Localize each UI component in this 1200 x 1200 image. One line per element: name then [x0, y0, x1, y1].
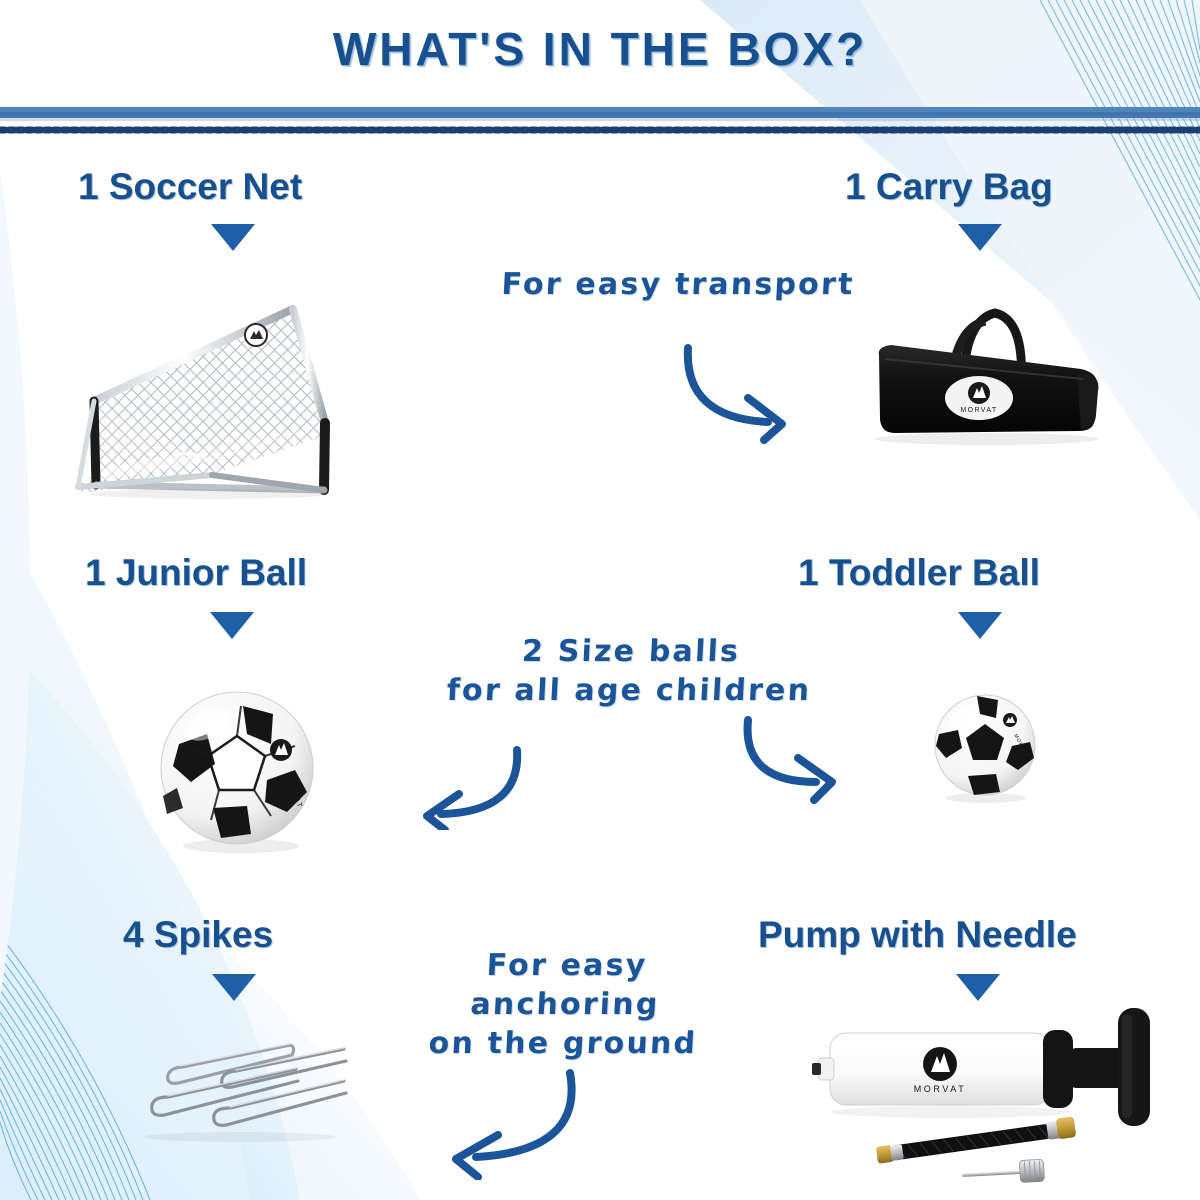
svg-text:MORVAT: MORVAT — [914, 1084, 967, 1094]
note-two-size-balls: 2 Size balls for all age children — [438, 632, 822, 710]
arrow-down-carry-bag — [958, 224, 1002, 251]
spikes-image — [120, 1025, 350, 1145]
carry-bag-image: MORVAT — [855, 295, 1115, 455]
brand-badge-net — [245, 324, 267, 346]
curved-arrow-to-toddler-ball — [730, 710, 860, 805]
curved-arrow-to-junior-ball — [405, 740, 545, 830]
curved-arrow-to-spikes — [420, 1065, 600, 1180]
pump-with-needle-image: MORVAT — [800, 1000, 1200, 1200]
item-label-carry-bag: 1 Carry Bag — [845, 166, 1053, 208]
item-label-toddler-ball: 1 Toddler Ball — [798, 552, 1040, 594]
header-dotted-divider — [0, 126, 1200, 134]
item-label-soccer-net: 1 Soccer Net — [78, 166, 302, 208]
note-easy-transport: For easy transport — [497, 265, 859, 304]
arrow-down-toddler-ball — [958, 612, 1002, 639]
item-label-pump: Pump with Needle — [758, 914, 1077, 956]
page-title: WHAT'S IN THE BOX? — [0, 22, 1200, 76]
note-easy-anchoring: For easy anchoring on the ground — [387, 946, 743, 1063]
header-divider-bar-shadow — [0, 118, 1200, 121]
curved-arrow-to-carry-bag — [660, 340, 840, 450]
arrow-down-soccer-net — [211, 224, 255, 251]
infographic-canvas: WHAT'S IN THE BOX? 1 Soccer Net — [0, 0, 1200, 1200]
item-label-junior-ball: 1 Junior Ball — [85, 552, 307, 594]
toddler-ball-image: MORVAT — [930, 692, 1042, 804]
item-label-spikes: 4 Spikes — [123, 914, 273, 956]
arrow-down-pump — [956, 974, 1000, 1001]
svg-text:MORVAT: MORVAT — [960, 407, 997, 414]
junior-ball-image: MORVAT — [155, 688, 323, 856]
soccer-net-image — [60, 285, 350, 500]
arrow-down-spikes — [212, 974, 256, 1001]
brand-badge-bag: MORVAT — [945, 376, 1013, 420]
header-divider-bar — [0, 107, 1200, 118]
arrow-down-junior-ball — [210, 612, 254, 639]
